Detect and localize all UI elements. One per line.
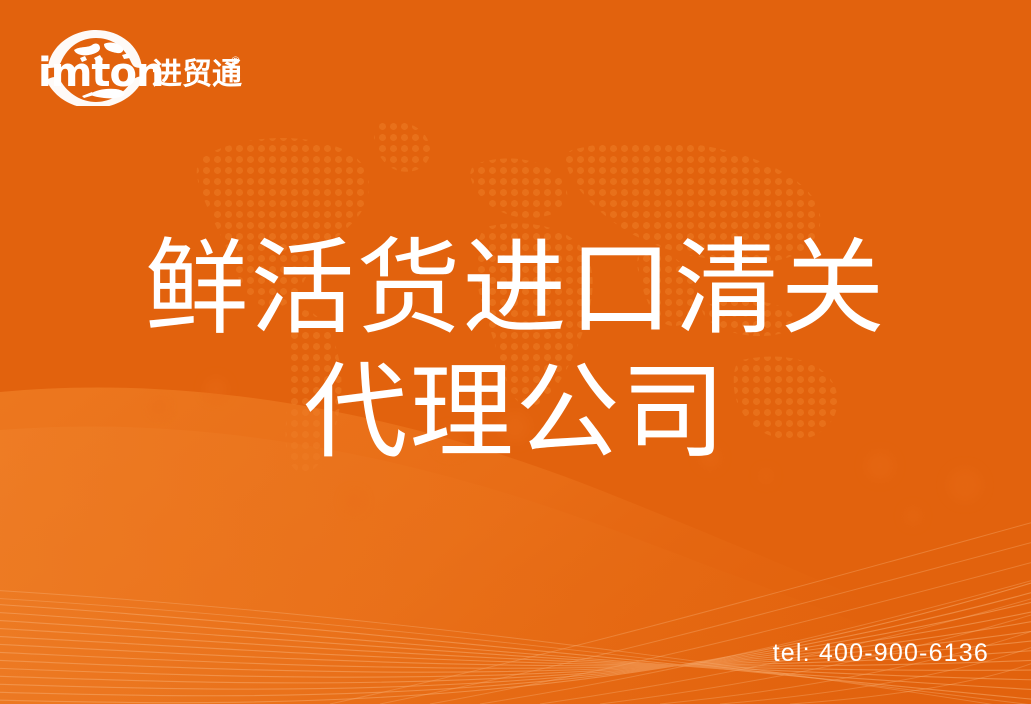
brand-logo[interactable]: imton 进贸通 ®	[34, 24, 249, 106]
registered-trademark-icon: ®	[230, 54, 241, 67]
headline-line-1: 鲜活货进口清关	[0, 226, 1031, 350]
contact-phone[interactable]: tel: 400-900-6136	[773, 639, 989, 668]
promo-banner: imton 进贸通 ® 鲜活货进口清关 代理公司 tel: 400-900-61…	[0, 0, 1031, 704]
logo-wordmark-latin: imton	[38, 50, 163, 96]
logo-wordmark-chinese: 进贸通	[152, 57, 242, 92]
headline-line-2: 代理公司	[0, 350, 1031, 474]
page-title: 鲜活货进口清关 代理公司	[0, 226, 1031, 474]
